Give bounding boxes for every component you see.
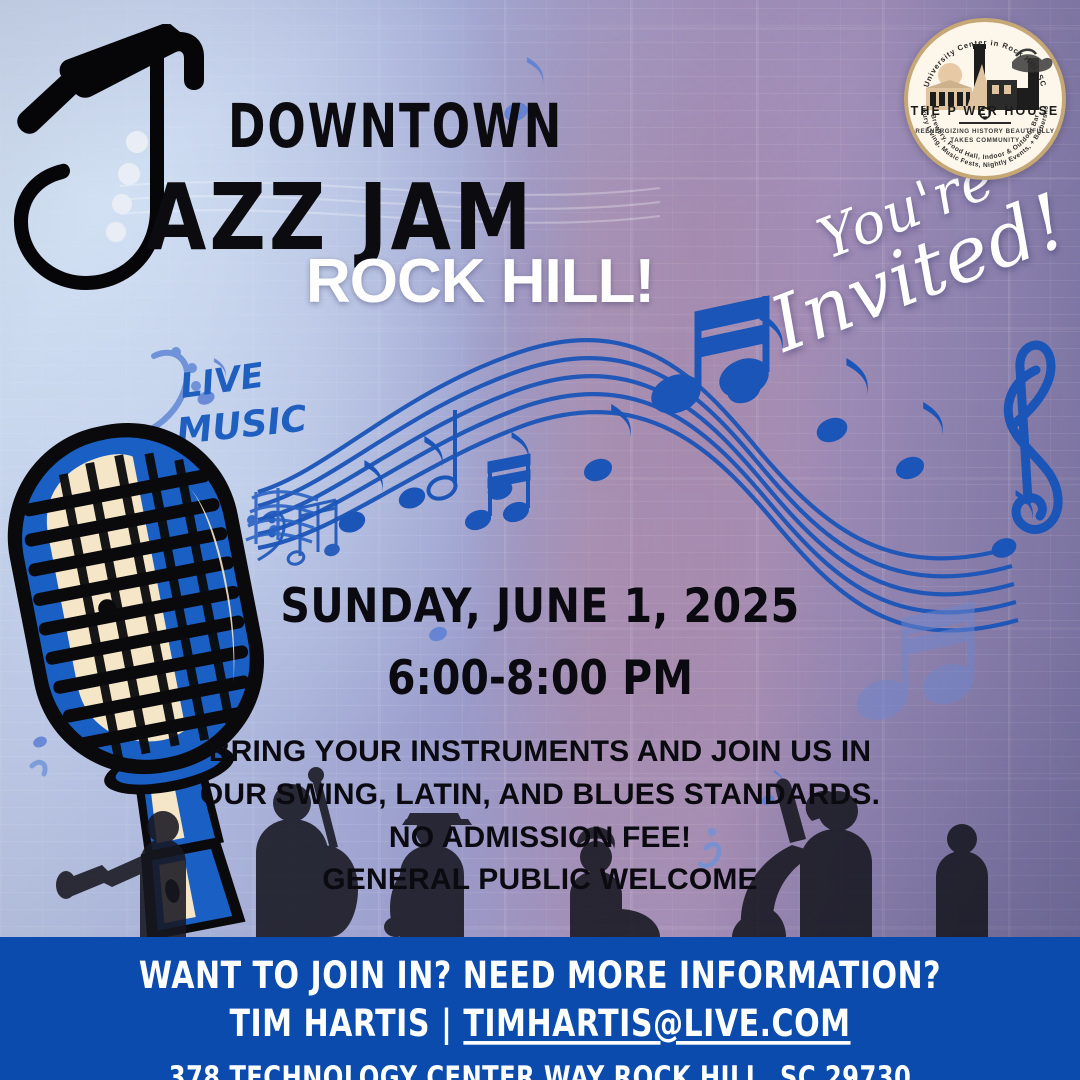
footer-address: 378 TECHNOLOGY CENTER WAY ROCK HILL, SC … [16,1060,1064,1080]
event-details: SUNDAY, JUNE 1, 2025 6:00-8:00 PM BRING … [0,578,1080,903]
beamed-eighths-top-right [646,296,774,420]
contact-email-link[interactable]: TIMHARTIS@LIVE.COM [463,1002,850,1046]
treble-clef [1008,345,1058,529]
event-description-line-2: OUR SWING, LATIN, AND BLUES STANDARDS. [0,775,1080,816]
event-description-line-4: GENERAL PUBLIC WELCOME [0,860,1080,901]
contact-name: TIM HARTIS [229,1002,430,1046]
event-description-line-1: BRING YOUR INSTRUMENTS AND JOIN US IN [0,732,1080,773]
event-description-line-3: NO ADMISSION FEE! [0,818,1080,859]
event-date: SUNDAY, JUNE 1, 2025 [0,578,1080,634]
footer-contact-line: TIM HARTIS | TIMHARTIS@LIVE.COM [16,1002,1064,1046]
contact-separator: | [430,1002,463,1046]
logo-divider [959,122,1011,124]
logo-artwork: University Center in Rock Hill, SC Brewe… [904,18,1066,180]
logo-tagline-1: REENERGIZING HISTORY BEAUTIFULLY [904,128,1066,135]
contact-footer: WANT TO JOIN IN? NEED MORE INFORMATION? … [0,937,1080,1080]
footer-question: WANT TO JOIN IN? NEED MORE INFORMATION? [16,954,1064,998]
title-rock-hill: ROCK HILL! [306,246,654,317]
logo-tagline-2: TAKES COMMUNITY [904,137,1066,144]
jazz-event-poster: LIVE MUSIC DOWNTOWN AZZ JAM ROCK HILL! Y… [0,0,1080,1080]
event-time: 6:00-8:00 PM [0,650,1080,706]
power-house-logo: University Center in Rock Hill, SC Brewe… [904,18,1066,180]
kicker-downtown: DOWNTOWN [228,92,563,162]
logo-name-text: THE P WER HOUSE [904,104,1066,118]
event-description: BRING YOUR INSTRUMENTS AND JOIN US IN OU… [0,732,1080,901]
